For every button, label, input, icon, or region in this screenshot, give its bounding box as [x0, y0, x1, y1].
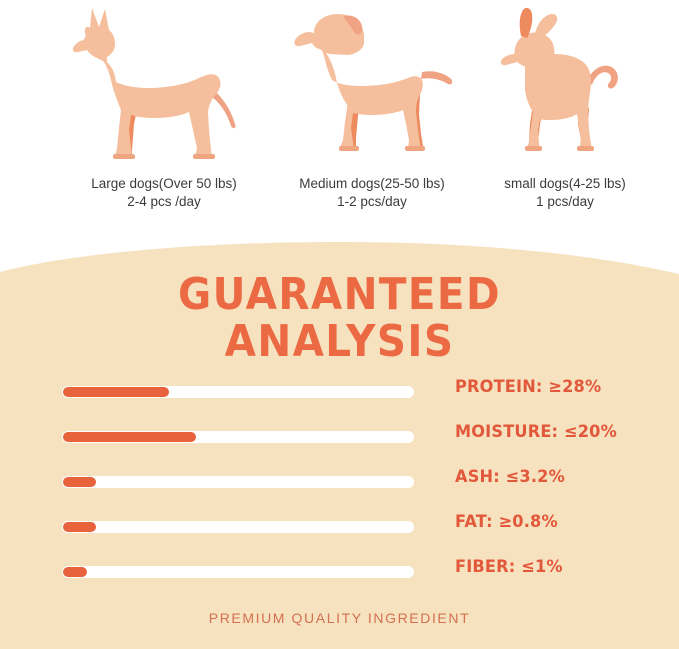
dog-caption-medium: Medium dogs(25-50 lbs) 1-2 pcs/day — [272, 175, 472, 211]
nutrient-label-protein: PROTEIN: ≥28% — [455, 381, 668, 393]
nutrient-bar-row — [62, 566, 414, 578]
dog-size-label-medium: Medium dogs(25-50 lbs) — [299, 176, 445, 191]
dog-caption-small: small dogs(4-25 lbs) 1 pcs/day — [475, 175, 655, 211]
dog-serving-large: 2-4 pcs /day — [39, 193, 289, 211]
bar-fill-moisture — [63, 432, 196, 442]
title-line-1: GUARANTEED — [27, 271, 652, 318]
nutrient-label-fat: FAT: ≥0.8% — [455, 516, 668, 528]
bar-track — [62, 521, 414, 533]
premium-quality-footer: PREMIUM QUALITY INGREDIENT — [0, 610, 679, 626]
bar-fill-fiber — [63, 567, 87, 577]
dog-size-label-small: small dogs(4-25 lbs) — [504, 176, 626, 191]
dog-serving-small: 1 pcs/day — [475, 193, 655, 211]
dog-serving-medium: 1-2 pcs/day — [272, 193, 472, 211]
small-dog-silhouette-icon — [475, 0, 655, 170]
bar-fill-fat — [63, 522, 96, 532]
feeding-guide-column-medium: Medium dogs(25-50 lbs) 1-2 pcs/day — [272, 0, 472, 211]
feeding-guide-column-small: small dogs(4-25 lbs) 1 pcs/day — [475, 0, 655, 211]
title-line-2: ANALYSIS — [27, 318, 652, 365]
guaranteed-analysis-panel: GUARANTEED ANALYSIS — [0, 238, 679, 649]
feeding-guide-column-large: Large dogs(Over 50 lbs) 2-4 pcs /day — [39, 0, 289, 211]
nutrient-label-moisture: MOISTURE: ≤20% — [455, 426, 668, 438]
bar-fill-ash — [63, 477, 96, 487]
nutrient-bars-list — [62, 386, 414, 611]
page-title: GUARANTEED ANALYSIS — [27, 271, 652, 365]
bar-track — [62, 566, 414, 578]
nutrient-label-ash: ASH: ≤3.2% — [455, 471, 668, 483]
feeding-guide-section: Large dogs(Over 50 lbs) 2-4 pcs /day — [0, 0, 679, 250]
bar-fill-protein — [63, 387, 169, 397]
nutrient-bar-row — [62, 476, 414, 488]
dog-size-label-large: Large dogs(Over 50 lbs) — [91, 176, 237, 191]
bar-track — [62, 431, 414, 443]
dog-caption-large: Large dogs(Over 50 lbs) 2-4 pcs /day — [39, 175, 289, 211]
medium-dog-silhouette-icon — [272, 0, 472, 170]
nutrient-label-fiber: FIBER: ≤1% — [455, 561, 668, 573]
nutrient-bar-row — [62, 431, 414, 443]
nutrient-labels-list: PROTEIN: ≥28% MOISTURE: ≤20% ASH: ≤3.2% … — [455, 381, 679, 606]
nutrient-bar-row — [62, 521, 414, 533]
large-dog-silhouette-icon — [39, 0, 289, 170]
nutrient-bar-row — [62, 386, 414, 398]
bar-track — [62, 386, 414, 398]
bar-track — [62, 476, 414, 488]
